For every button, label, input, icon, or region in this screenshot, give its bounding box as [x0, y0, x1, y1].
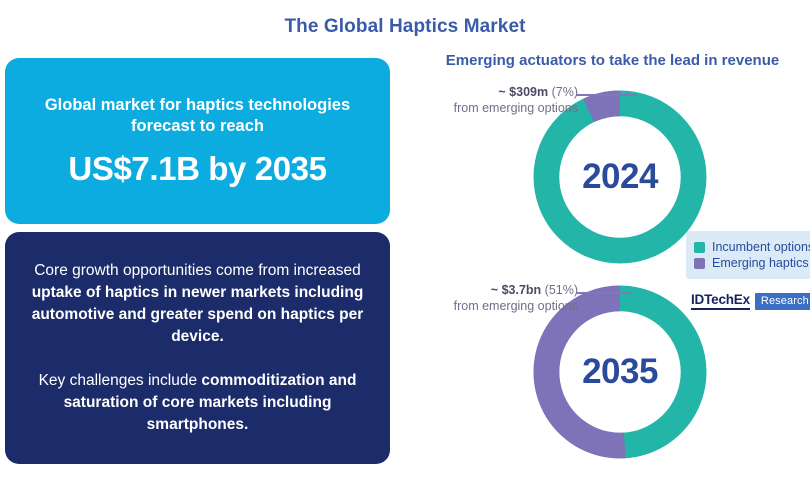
growth-opportunities-text: Core growth opportunities come from incr…: [28, 260, 368, 348]
callout-2024-value-line: ~ $309m (7%): [398, 84, 578, 100]
callout-2024-value: ~ $309m: [498, 85, 548, 99]
page-title: The Global Haptics Market: [0, 16, 810, 38]
chart-subtitle: Emerging actuators to take the lead in r…: [420, 52, 805, 69]
legend-label-incumbent: Incumbent options: [712, 240, 810, 254]
legend-item-incumbent: Incumbent options: [694, 240, 806, 254]
callout-2024-sub: from emerging options: [398, 100, 578, 116]
callout-2035-sub: from emerging options: [398, 298, 578, 314]
callout-2035: ~ $3.7bn (51%) from emerging options: [398, 282, 578, 314]
leader-line-2024: [576, 94, 636, 96]
challenges-plain-text: Key challenges include: [39, 372, 202, 389]
key-challenges-text: Key challenges include commoditization a…: [28, 370, 368, 436]
callout-2035-value: ~ $3.7bn: [491, 283, 541, 297]
idtechex-logo: IDTechEx Research: [691, 292, 810, 310]
forecast-headline: US$7.1B by 2035: [68, 151, 326, 187]
logo-research-badge: Research: [755, 293, 810, 310]
growth-bold-text: uptake of haptics in newer markets inclu…: [32, 284, 364, 345]
infographic-root: The Global Haptics Market Global market …: [0, 0, 810, 480]
growth-plain-text: Core growth opportunities come from incr…: [34, 262, 361, 279]
leader-line-2035: [576, 292, 632, 294]
callout-2035-percent: (51%): [545, 283, 578, 297]
callout-2035-value-line: ~ $3.7bn (51%): [398, 282, 578, 298]
legend-item-emerging: Emerging haptics: [694, 256, 806, 270]
legend-swatch-emerging-icon: [694, 258, 705, 269]
forecast-lead-text: Global market for haptics technologies f…: [33, 95, 363, 137]
chart-legend: Incumbent options Emerging haptics: [686, 231, 810, 279]
logo-wordmark: IDTechEx: [691, 292, 750, 310]
legend-label-emerging: Emerging haptics: [712, 256, 809, 270]
market-forecast-card: Global market for haptics technologies f…: [5, 58, 390, 224]
callout-2024-percent: (7%): [552, 85, 578, 99]
insights-card: Core growth opportunities come from incr…: [5, 232, 390, 464]
callout-2024: ~ $309m (7%) from emerging options: [398, 84, 578, 116]
legend-swatch-incumbent-icon: [694, 242, 705, 253]
